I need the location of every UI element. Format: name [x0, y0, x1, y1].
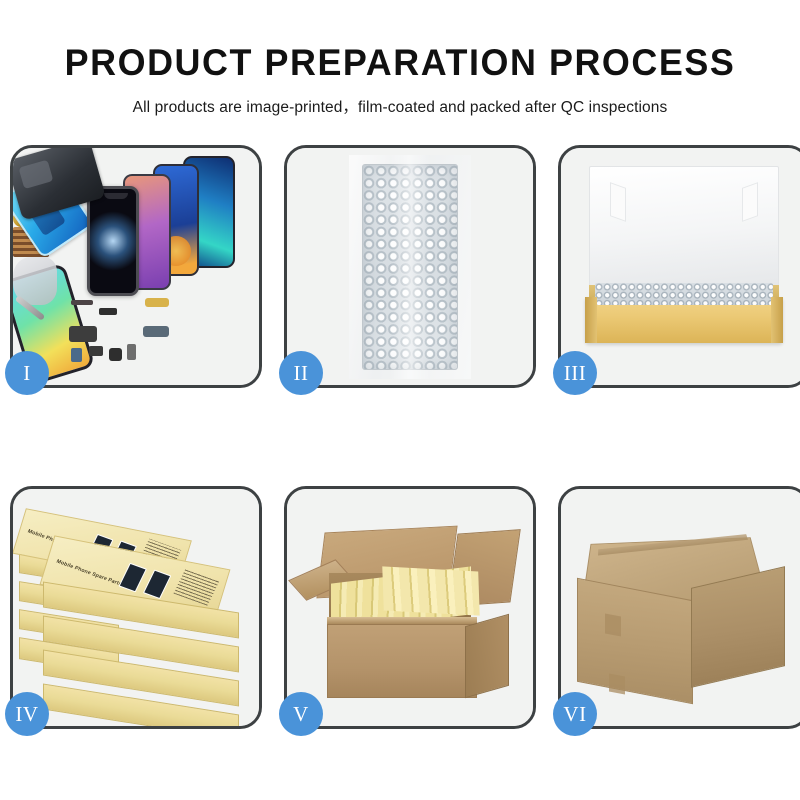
- lid-tab-left: [610, 182, 626, 222]
- flex-cable-3-icon: [143, 326, 169, 337]
- phone-parts-illustration: [13, 148, 259, 385]
- product-preparation-infographic: PRODUCT PREPARATION PROCESS All products…: [0, 0, 800, 800]
- step-badge-6: VI: [553, 692, 597, 736]
- step-image-3: [561, 148, 800, 385]
- bubble-wrap-sleeve: [349, 155, 471, 379]
- sealed-carton-front-face: [577, 578, 693, 705]
- flex-cable-2-icon: [145, 298, 169, 307]
- step-panel-3: III: [558, 145, 800, 388]
- carton-tape-mark-2: [609, 673, 625, 694]
- page-title: PRODUCT PREPARATION PROCESS: [12, 42, 788, 84]
- process-steps-grid: I II: [10, 145, 790, 745]
- step-image-2: [287, 148, 533, 385]
- tempered-glass-icon: [87, 186, 139, 296]
- carton-side-face: [465, 614, 509, 699]
- carton-front-face: [327, 624, 477, 698]
- step-panel-5: V: [284, 486, 536, 729]
- small-part-5-icon: [99, 308, 117, 315]
- packed-boxes-icon-2: [382, 566, 479, 615]
- step-image-1: [13, 148, 259, 385]
- mailer-box-lid-icon: [589, 166, 779, 286]
- step-badge-1: I: [5, 351, 49, 395]
- box-edge-right: [771, 297, 783, 343]
- step-panel-1: I: [10, 145, 262, 388]
- open-carton-illustration: [287, 489, 533, 726]
- page-subtitle: All products are image-printed，film-coat…: [0, 95, 800, 117]
- bubble-wrap-sheen: [390, 155, 430, 379]
- step-panel-2: II: [284, 145, 536, 388]
- header: PRODUCT PREPARATION PROCESS All products…: [0, 0, 800, 117]
- lid-tab-right: [742, 182, 758, 222]
- box-screen-image-4: [143, 570, 171, 600]
- step-panel-6: VI: [558, 486, 800, 729]
- step-panel-4: Mobile Phone Spare Parts Mobile Phone Sp…: [10, 486, 262, 729]
- step-image-5: [287, 489, 533, 726]
- step-badge-2: II: [279, 351, 323, 395]
- part-strip-icon: [71, 300, 93, 305]
- box-screen-image-3: [119, 563, 147, 593]
- step-badge-5: V: [279, 692, 323, 736]
- box-edge-left: [585, 297, 597, 343]
- box-spec-lines-2: [173, 568, 219, 605]
- small-part-1-icon: [71, 348, 82, 362]
- bubble-wrapped-item-icon: [595, 283, 773, 305]
- flex-cable-1-icon: [69, 326, 97, 342]
- box-label-front: Mobile Phone Spare Parts: [55, 559, 123, 588]
- carton-tape-mark-1: [605, 613, 621, 636]
- step-image-4: Mobile Phone Spare Parts Mobile Phone Sp…: [13, 489, 259, 726]
- small-part-4-icon: [127, 344, 136, 360]
- stacked-boxes-illustration: Mobile Phone Spare Parts Mobile Phone Sp…: [13, 489, 259, 726]
- small-part-3-icon: [109, 348, 122, 361]
- step-badge-4: IV: [5, 692, 49, 736]
- mailer-box-body-icon: [585, 297, 783, 343]
- sealed-carton-illustration: [561, 489, 800, 726]
- small-part-2-icon: [89, 346, 103, 356]
- step-image-6: [561, 489, 800, 726]
- step-badge-3: III: [553, 351, 597, 395]
- carton-rim: [327, 617, 477, 624]
- sealed-carton-side-face: [691, 566, 785, 688]
